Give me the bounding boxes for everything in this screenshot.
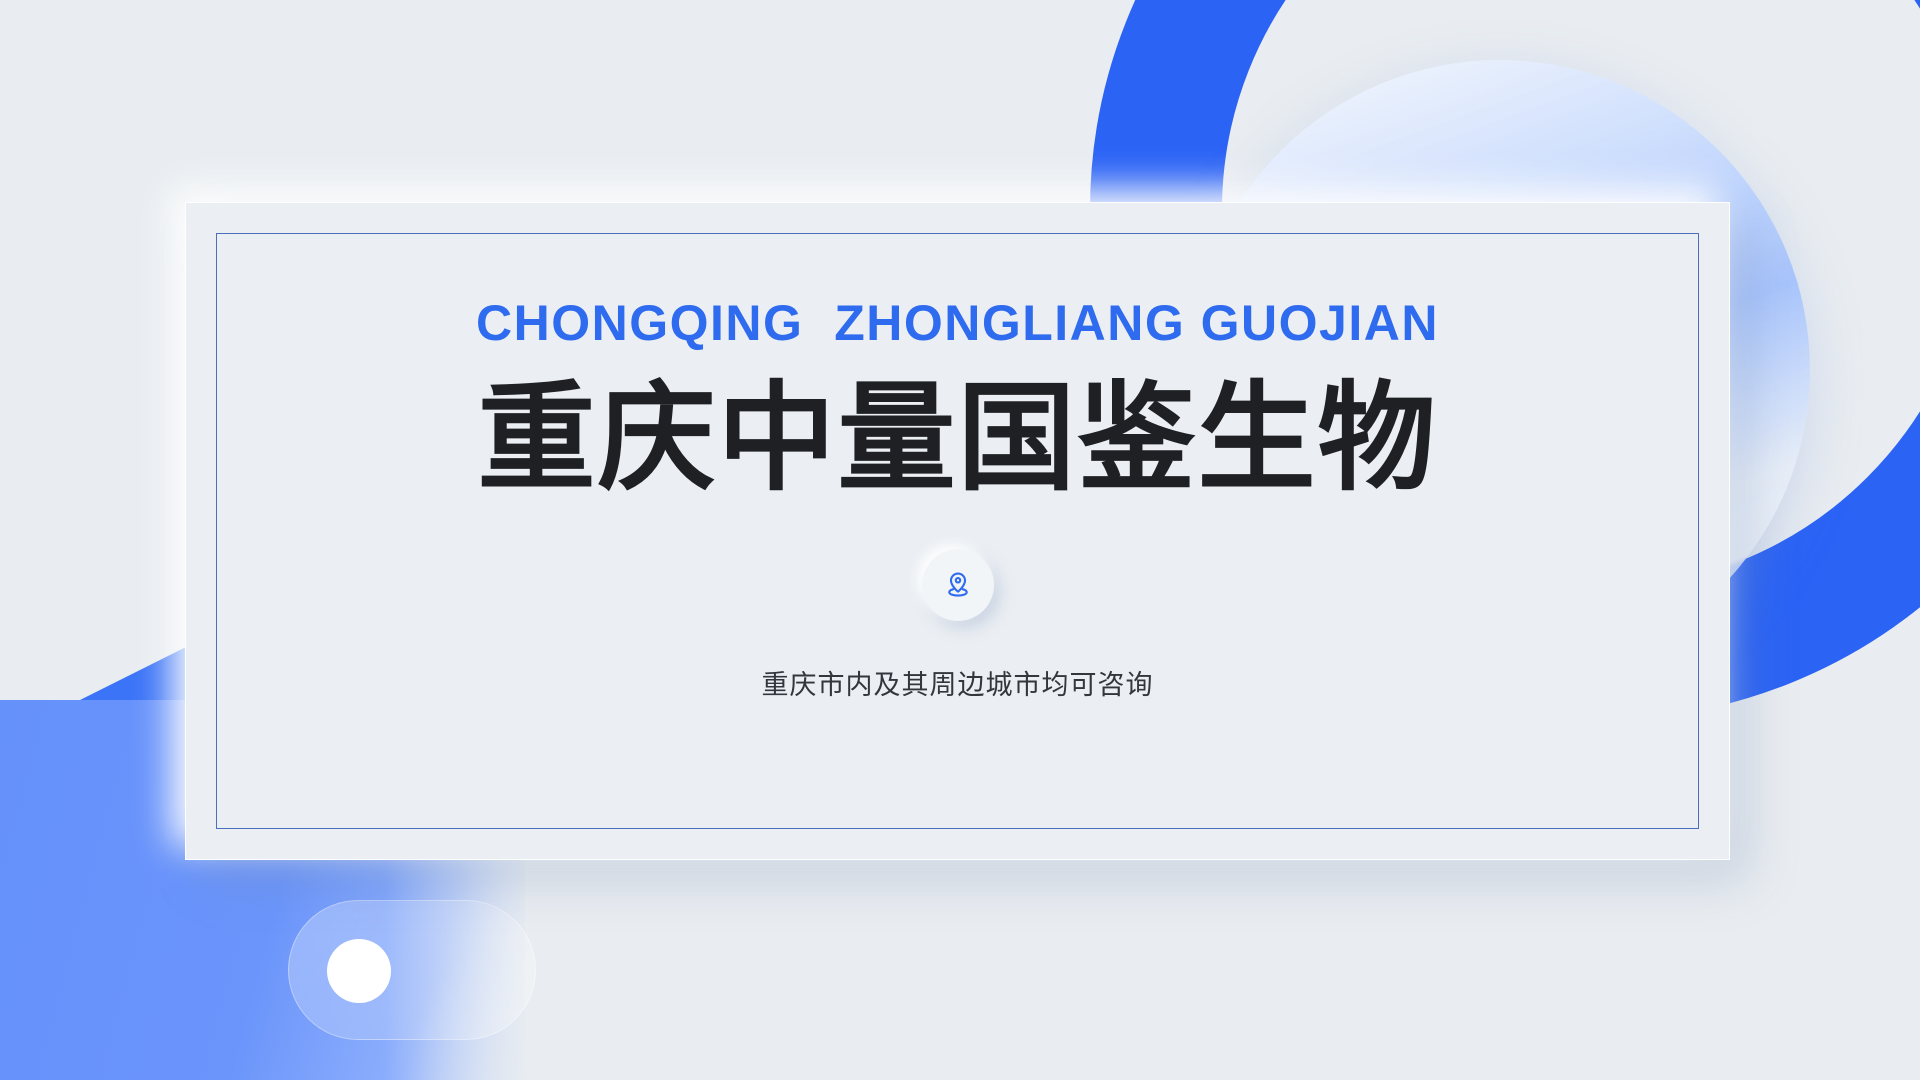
location-badge (922, 549, 994, 621)
glass-toggle-pill-shape (288, 900, 536, 1040)
subtitle-text: 重庆市内及其周边城市均可咨询 (762, 663, 1154, 702)
toggle-knob-circle (327, 939, 391, 1003)
location-pin-icon (941, 568, 975, 602)
title-chinese: 重庆中量国鉴生物 (477, 373, 1437, 505)
main-card: CHONGQING ZHONGLIANG GUOJIAN 重庆中量国鉴生物 重庆… (185, 202, 1730, 860)
card-inner-border: CHONGQING ZHONGLIANG GUOJIAN 重庆中量国鉴生物 重庆… (216, 233, 1699, 829)
title-english: CHONGQING ZHONGLIANG GUOJIAN (476, 296, 1439, 351)
poster-canvas: CHONGQING ZHONGLIANG GUOJIAN 重庆中量国鉴生物 重庆… (0, 0, 1920, 1080)
